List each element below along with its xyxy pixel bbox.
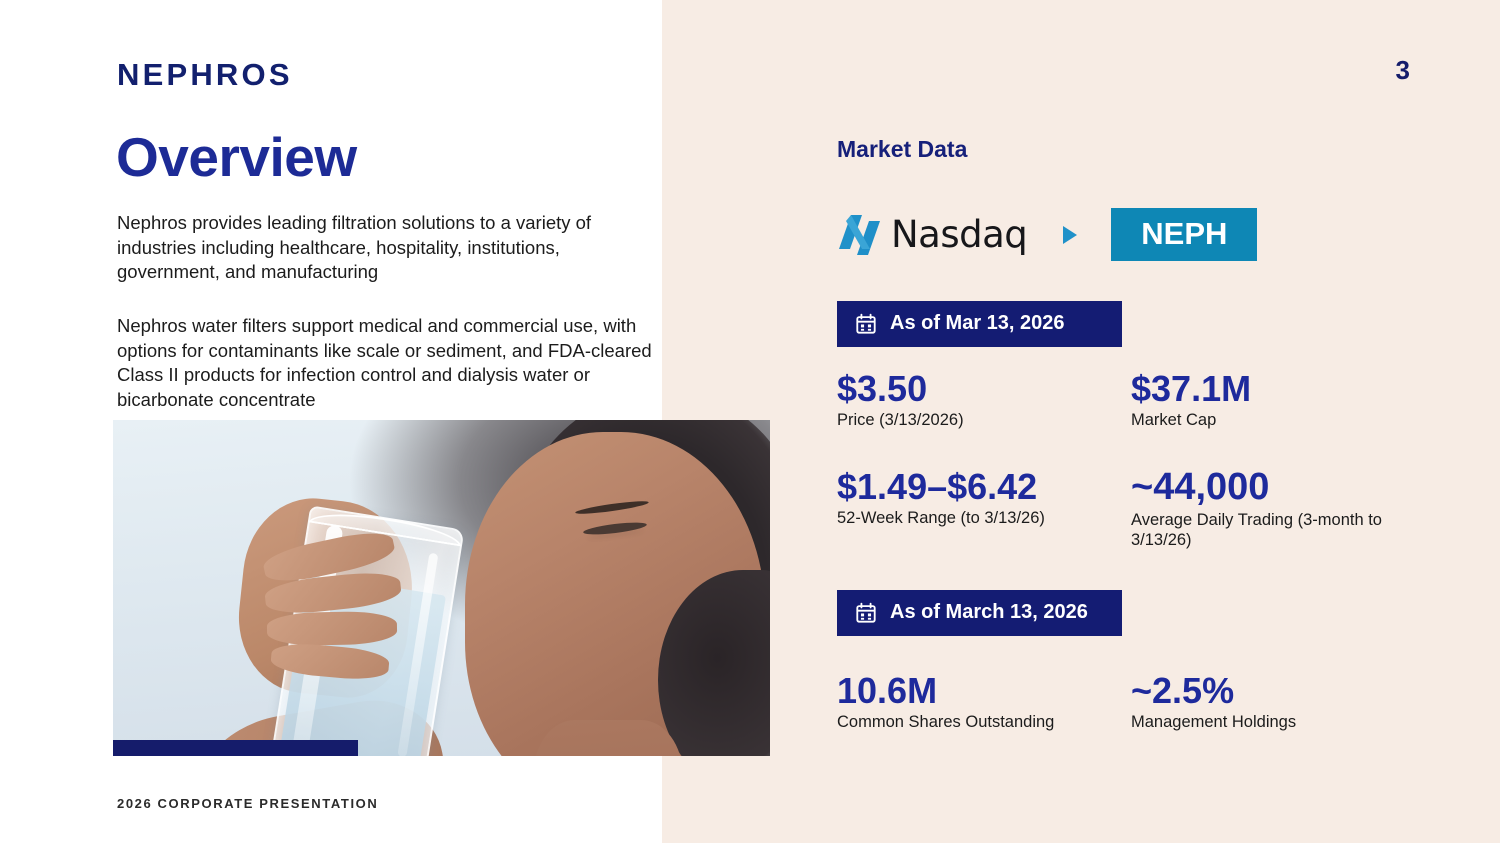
stat-average-daily-trading-label: Average Daily Trading (3-month to 3/13/2… [1131, 510, 1431, 550]
stat-average-daily-trading-value: ~44,000 [1131, 468, 1431, 508]
date-banner-primary-label: As of Mar 13, 2026 [890, 312, 1065, 335]
stat-common-shares-label: Common Shares Outstanding [837, 712, 1077, 732]
date-banner-secondary: As of March 13, 2026 [837, 590, 1122, 636]
photo-finger [267, 611, 398, 646]
date-banner-primary: As of Mar 13, 2026 [837, 301, 1122, 347]
nephros-logo: NEPHROS [117, 57, 293, 93]
hero-photo-woman-drinking-water [113, 420, 770, 756]
overview-paragraph-1: Nephros provides leading filtration solu… [117, 211, 662, 285]
stat-price-value: $3.50 [837, 370, 964, 408]
ticker-symbol-badge: NEPH [1111, 208, 1257, 261]
stat-common-shares-value: 10.6M [837, 672, 1077, 710]
stat-52-week-range-label: 52-Week Range (to 3/13/26) [837, 508, 1087, 528]
stat-management-holdings: ~2.5% Management Holdings [1131, 672, 1371, 732]
stat-price-label: Price (3/13/2026) [837, 410, 964, 430]
page-number: 3 [1396, 55, 1410, 86]
nasdaq-logo: Nasdaq [837, 209, 1027, 261]
market-data-title: Market Data [837, 136, 967, 163]
stat-management-holdings-label: Management Holdings [1131, 712, 1371, 732]
arrow-right-icon [1063, 226, 1077, 244]
nasdaq-mark-icon [837, 209, 881, 261]
market-data-panel [662, 0, 1500, 843]
stat-common-shares: 10.6M Common Shares Outstanding [837, 672, 1077, 732]
footer-text: 2026 CORPORATE PRESENTATION [117, 796, 378, 811]
stat-price: $3.50 Price (3/13/2026) [837, 370, 964, 430]
date-banner-secondary-label: As of March 13, 2026 [890, 601, 1088, 624]
photo-accent-bar [113, 740, 358, 756]
stat-market-cap: $37.1M Market Cap [1131, 370, 1251, 430]
stat-52-week-range: $1.49–$6.42 52-Week Range (to 3/13/26) [837, 468, 1087, 528]
stat-52-week-range-value: $1.49–$6.42 [837, 468, 1087, 506]
calendar-icon [855, 602, 877, 624]
ticker-row: Nasdaq NEPH [837, 208, 1257, 261]
nasdaq-wordmark: Nasdaq [891, 213, 1027, 256]
stat-market-cap-label: Market Cap [1131, 410, 1251, 430]
stat-market-cap-value: $37.1M [1131, 370, 1251, 408]
stat-average-daily-trading: ~44,000 Average Daily Trading (3-month t… [1131, 468, 1431, 550]
overview-paragraph-2: Nephros water filters support medical an… [117, 314, 662, 412]
calendar-icon [855, 313, 877, 335]
page-title: Overview [116, 130, 357, 185]
stat-management-holdings-value: ~2.5% [1131, 672, 1371, 710]
